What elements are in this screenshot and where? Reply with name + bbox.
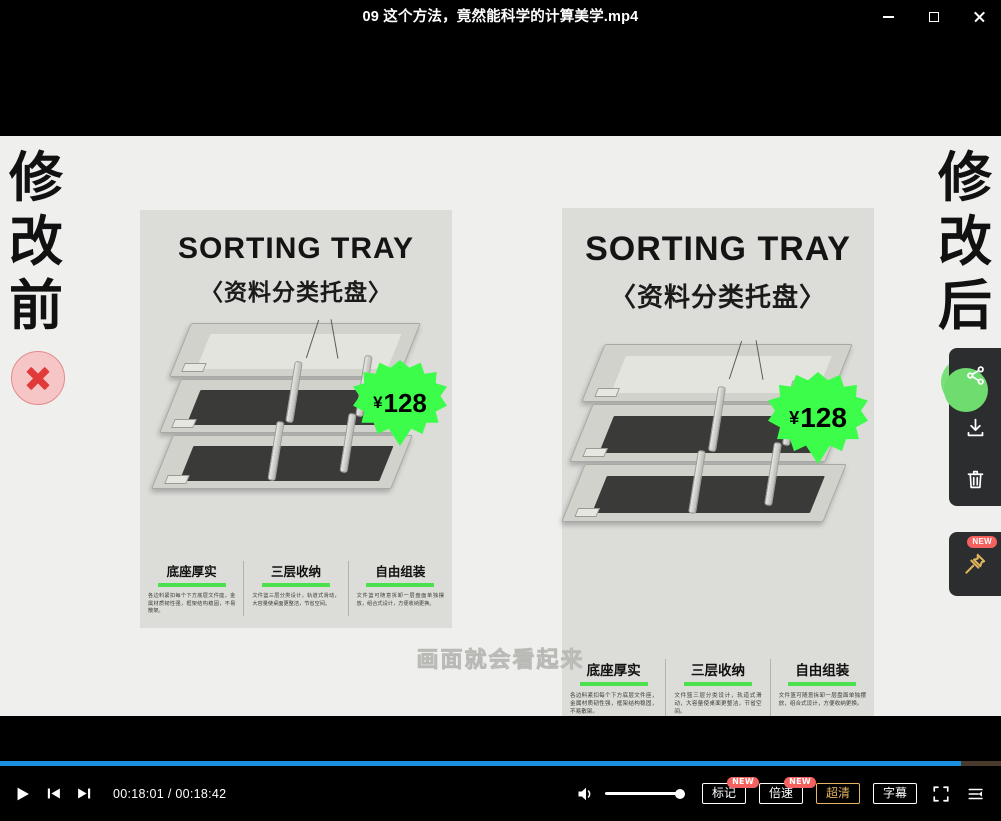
maximize-button[interactable]	[911, 0, 956, 34]
feature-body: 各边料紧扣每个下方底层文件座，金属材质韧性强，框架结构稳固，不易散架。	[148, 593, 235, 616]
title-bar: 09 这个方法，竟然能科学的计算美学.mp4	[0, 0, 1001, 34]
tray-lip	[582, 448, 608, 457]
poster-after: SORTING TRAY 〈资料分类托盘〉	[562, 208, 874, 716]
volume-button[interactable]	[575, 783, 597, 805]
quality-button[interactable]: 超清	[816, 783, 860, 805]
feature-body: 文件篮可随意拆卸一层盘面单独摆放，组合式设计，方便收纳更换。	[779, 692, 866, 708]
x-mark-icon	[11, 351, 65, 405]
poster-after-subtitle: 〈资料分类托盘〉	[562, 277, 874, 314]
fullscreen-button[interactable]	[930, 783, 952, 805]
mark-new-badge: NEW	[727, 777, 759, 789]
fullscreen-icon	[932, 785, 950, 803]
time-display: 00:18:01 / 00:18:42	[113, 787, 226, 801]
speed-new-badge: NEW	[784, 777, 816, 789]
share-button[interactable]	[958, 358, 992, 392]
feature-heading: 自由组装	[357, 561, 444, 580]
feature-heading: 三层收纳	[252, 561, 339, 580]
feature-underline	[262, 583, 330, 587]
maximize-icon	[929, 12, 939, 22]
quality-button-label: 超清	[826, 786, 850, 800]
tray-lip	[164, 475, 190, 484]
close-icon	[973, 11, 985, 23]
feature-body: 文件篮三层分类设计，轨道式滑动，大容量使桌面更整洁，节省空间。	[674, 692, 761, 716]
previous-button[interactable]	[45, 785, 62, 802]
feature-underline	[366, 583, 434, 587]
speed-button[interactable]: 倍速 NEW	[759, 783, 803, 805]
feature-body: 文件篮三层分类设计，轨道式滑动，大容量使桌面更整洁，节省空间。	[252, 593, 339, 608]
tray-lip	[594, 388, 620, 397]
play-button[interactable]	[14, 785, 31, 803]
tray-bottom	[151, 435, 413, 489]
volume-control[interactable]	[575, 783, 681, 805]
feature-item: 三层收纳 文件篮三层分类设计，轨道式滑动，大容量使桌面更整洁，节省空间。	[243, 561, 347, 616]
feature-body: 各边料紧扣每个下方底层文件座，金属材质韧性强，框架结构稳固，不易散架。	[570, 692, 657, 716]
minimize-button[interactable]	[866, 0, 911, 34]
poster-before: SORTING TRAY 〈资料分类托盘〉	[140, 210, 452, 628]
window-title: 09 这个方法，竟然能科学的计算美学.mp4	[0, 0, 1001, 34]
download-icon	[965, 417, 986, 438]
share-icon	[965, 365, 986, 386]
poster-after-title: SORTING TRAY	[562, 230, 874, 269]
feature-list-before: 底座厚实 各边料紧扣每个下方底层文件座，金属材质韧性强，框架结构稳固，不易散架。…	[140, 561, 452, 616]
next-icon	[76, 785, 93, 802]
feature-item: 自由组装 文件篮可随意拆卸一层盘面单独摆放，组合式设计，方便收纳更换。	[348, 561, 452, 616]
poster-before-subtitle: 〈资料分类托盘〉	[140, 273, 452, 307]
playlist-button[interactable]	[965, 783, 987, 805]
feature-body: 文件篮可随意拆卸一层盘面单独摆放，组合式设计，方便收纳更换。	[357, 593, 444, 608]
tray-inner	[179, 446, 393, 480]
player-controls: 00:18:01 / 00:18:42 标记 NEW 倍速	[0, 766, 1001, 821]
side-action-panel	[949, 348, 1001, 506]
volume-icon	[576, 784, 596, 804]
tray-lip	[171, 419, 197, 428]
tray-lip	[575, 508, 601, 517]
minimize-icon	[883, 16, 894, 18]
feature-heading: 底座厚实	[148, 561, 235, 580]
volume-knob[interactable]	[675, 789, 685, 799]
subtitle-button[interactable]: 字幕	[873, 783, 917, 805]
price-value: 128	[800, 402, 847, 434]
controls-right: 标记 NEW 倍速 NEW 超清 字幕	[575, 783, 1001, 805]
tray-bottom	[561, 464, 846, 522]
playlist-icon	[966, 785, 986, 803]
price-value: 128	[384, 388, 427, 419]
play-icon	[14, 785, 31, 803]
delete-button[interactable]	[958, 462, 992, 496]
mark-button[interactable]: 标记 NEW	[702, 783, 746, 805]
volume-slider[interactable]	[605, 792, 681, 795]
poster-before-title: SORTING TRAY	[140, 232, 452, 266]
label-before-text: 修改前	[0, 146, 72, 338]
label-before: 修改前	[0, 146, 72, 338]
subtitle-button-label: 字幕	[883, 786, 907, 800]
video-stage[interactable]: 修改前 修改后 SORTING TRAY 〈资料分类托盘〉	[0, 34, 1001, 720]
next-button[interactable]	[76, 785, 93, 802]
feature-underline	[580, 682, 648, 686]
pin-new-badge: NEW	[967, 536, 997, 548]
download-button[interactable]	[958, 410, 992, 444]
previous-icon	[45, 785, 62, 802]
video-player-window: 09 这个方法，竟然能科学的计算美学.mp4 修改前 修改后 SORTING T…	[0, 0, 1001, 821]
trash-icon	[965, 469, 986, 490]
pin-button[interactable]: NEW	[949, 532, 1001, 596]
window-controls	[866, 0, 1001, 34]
tray-inner	[592, 476, 825, 513]
label-after-text: 修改后	[929, 146, 1001, 338]
price-currency: ¥	[789, 408, 799, 429]
close-button[interactable]	[956, 0, 1001, 34]
feature-underline	[158, 583, 226, 587]
video-caption: 画面就会看起来	[0, 642, 1001, 674]
feature-underline	[788, 682, 856, 686]
tray-lip	[181, 363, 207, 372]
label-after: 修改后	[929, 146, 1001, 338]
feature-item: 底座厚实 各边料紧扣每个下方底层文件座，金属材质韧性强，框架结构稳固，不易散架。	[140, 561, 243, 616]
video-frame: 修改前 修改后 SORTING TRAY 〈资料分类托盘〉	[0, 136, 1001, 716]
price-currency: ¥	[373, 393, 382, 413]
pin-icon	[962, 551, 988, 577]
feature-underline	[684, 682, 752, 686]
controls-left: 00:18:01 / 00:18:42	[0, 785, 226, 803]
